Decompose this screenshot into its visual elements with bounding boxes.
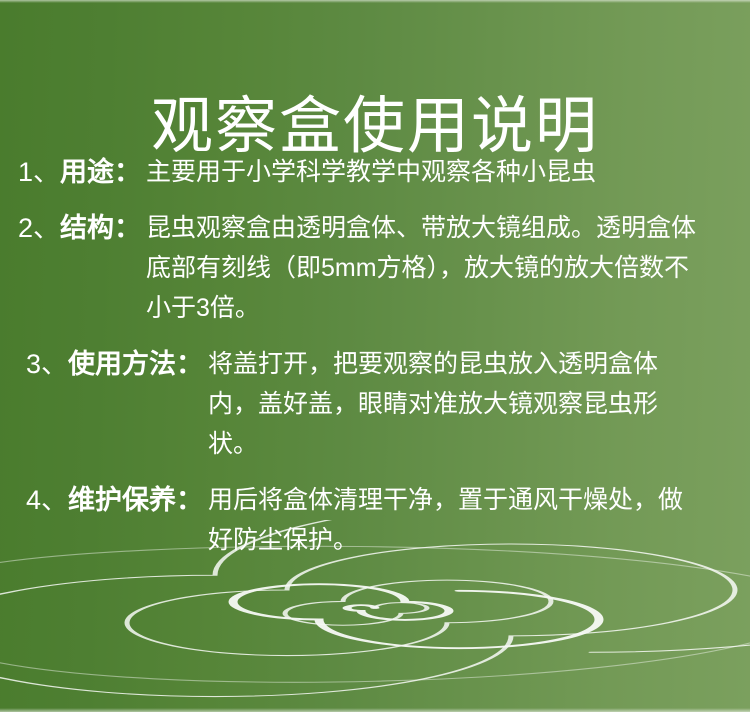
instruction-list: 1、用途： 主要用于小学科学教学中观察各种小昆虫 2、结构： 昆虫观察盒由透明盒…	[0, 152, 750, 576]
instruction-colon: ：	[176, 480, 203, 520]
instruction-body: 用后将盒体清理干净，置于通风干燥处，做好防尘保护。	[208, 480, 750, 560]
instruction-label: 使用方法	[68, 344, 176, 384]
instruction-label: 结构	[60, 208, 114, 248]
instruction-poster: 观察盒使用说明 1、用途： 主要用于小学科学教学中观察各种小昆虫 2、结构： 昆…	[0, 0, 750, 712]
instruction-body: 主要用于小学科学教学中观察各种小昆虫	[146, 152, 750, 192]
instruction-number: 3、	[26, 344, 68, 384]
instruction-number: 2、	[18, 208, 60, 248]
instruction-head: 4、维护保养：	[0, 480, 208, 520]
instruction-colon: ：	[114, 152, 141, 192]
list-item: 3、使用方法： 将盖打开，把要观察的昆虫放入透明盒体内，盖好盖，眼睛对准放大镜观…	[0, 344, 750, 464]
instruction-number: 4、	[26, 480, 68, 520]
instruction-colon: ：	[176, 344, 203, 384]
list-item: 1、用途： 主要用于小学科学教学中观察各种小昆虫	[0, 152, 750, 192]
instruction-label: 用途	[60, 152, 114, 192]
list-item: 4、维护保养： 用后将盒体清理干净，置于通风干燥处，做好防尘保护。	[0, 480, 750, 560]
instruction-head: 1、用途：	[0, 152, 146, 192]
instruction-colon: ：	[114, 208, 141, 248]
instruction-number: 1、	[18, 152, 60, 192]
instruction-body: 将盖打开，把要观察的昆虫放入透明盒体内，盖好盖，眼睛对准放大镜观察昆虫形状。	[208, 344, 750, 464]
instruction-head: 2、结构：	[0, 208, 146, 248]
instruction-body: 昆虫观察盒由透明盒体、带放大镜组成。透明盒体底部有刻线（即5mm方格），放大镜的…	[146, 208, 750, 328]
list-item: 2、结构： 昆虫观察盒由透明盒体、带放大镜组成。透明盒体底部有刻线（即5mm方格…	[0, 208, 750, 328]
instruction-head: 3、使用方法：	[0, 344, 208, 384]
instruction-label: 维护保养	[68, 480, 176, 520]
